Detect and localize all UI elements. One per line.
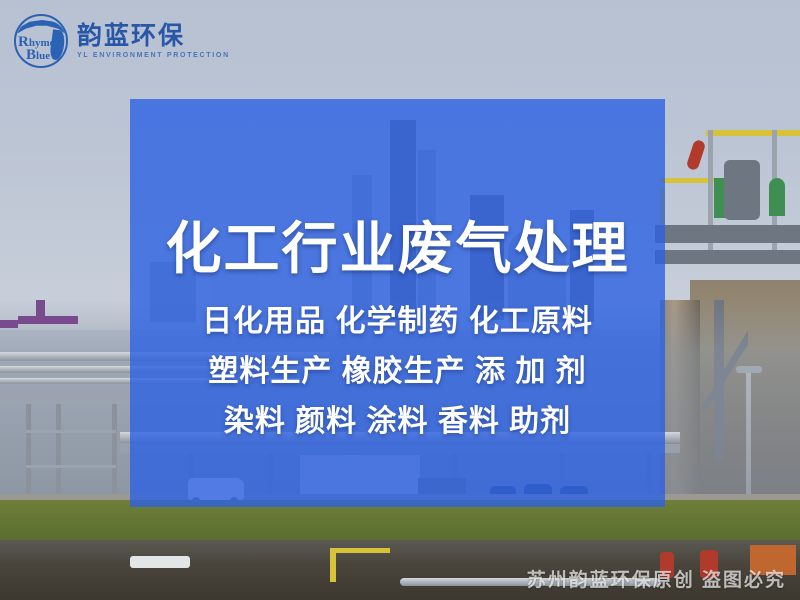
rack-brace [26,465,116,468]
rhyme-blue-circle-logo-icon: Rhyme Blue [14,14,68,68]
rack-leg [56,404,61,500]
logo-mark-line2-rest: lue [36,50,50,62]
banner-subline-3: 染料 颜料 涂料 香料 助剂 [130,407,665,437]
yellow-beam [706,130,800,136]
banner-text-block: 化工行业废气处理 日化用品 化学制药 化工原料 塑料生产 橡胶生产 添 加 剂 … [130,99,665,507]
purple-pipe [0,320,18,328]
banner-subline-1: 日化用品 化学制药 化工原料 [130,307,665,337]
rack-brace [26,430,116,433]
logo-mark-line2: Blue [26,47,50,64]
heat-exchanger [724,160,760,220]
company-logo[interactable]: Rhyme Blue 韵蓝环保 YL ENVIRONMENT PROTECTIO… [14,10,314,72]
logo-mark-line2-initial: B [26,47,36,63]
pipe-bundle [655,250,800,264]
green-unit [769,178,785,216]
logo-name-en: YL ENVIRONMENT PROTECTION [77,50,230,61]
logo-name-cn: 韵蓝环保 [77,22,230,50]
banner-subline-2: 塑料生产 橡胶生产 添 加 剂 [130,357,665,387]
copyright-watermark: 苏州韵蓝环保原创 盗图必究 [527,565,786,592]
rack-leg [112,404,117,500]
equipment-deck [655,225,800,243]
logo-wordmark: 韵蓝环保 YL ENVIRONMENT PROTECTION [77,22,230,61]
purple-pipe [18,316,78,324]
purple-pipe [36,300,45,320]
banner-headline: 化工行业废气处理 [130,221,665,277]
promotional-banner-image: 化工行业废气处理 日化用品 化学制药 化工原料 塑料生产 橡胶生产 添 加 剂 … [0,0,800,600]
rack-leg [26,404,31,500]
concrete-barrier [130,556,190,568]
yellow-handrail [330,548,336,582]
yellow-handrail [330,548,390,553]
